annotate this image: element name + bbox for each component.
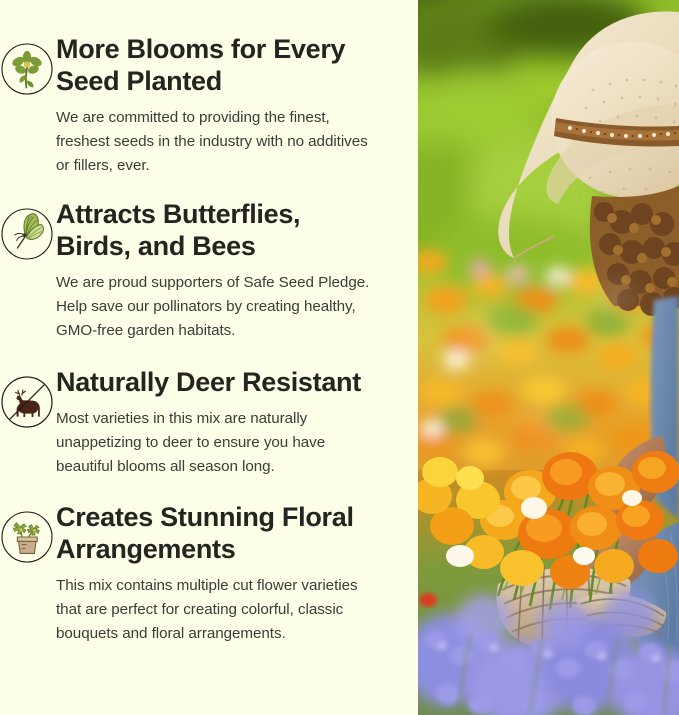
benefit-text-block: Creates Stunning Floral Arrangements Thi… [56,502,396,645]
potted-plant-icon [0,510,54,564]
benefit-title: Attracts Butterflies, Birds, and Bees [56,199,378,262]
benefit-title: Naturally Deer Resistant [56,367,378,399]
red-bud [419,593,437,607]
benefit-item-more-blooms: More Blooms for Every Seed Planted We ar… [0,34,396,177]
flower-icon [0,42,54,96]
benefit-text-block: More Blooms for Every Seed Planted We ar… [56,34,396,177]
benefit-description: Most varieties in this mix are naturally… [56,407,376,478]
benefit-icon-container [0,199,56,257]
benefit-text-block: Naturally Deer Resistant Most varieties … [56,367,396,479]
benefits-panel: More Blooms for Every Seed Planted We ar… [0,0,418,715]
benefit-title: More Blooms for Every Seed Planted [56,34,378,97]
benefit-description: We are committed to providing the finest… [56,106,376,177]
benefit-description: We are proud supporters of Safe Seed Ple… [56,271,378,342]
benefit-item-attracts-pollinators: Attracts Butterflies, Birds, and Bees We… [0,199,396,342]
benefit-description: This mix contains multiple cut flower va… [56,574,378,645]
benefit-text-block: Attracts Butterflies, Birds, and Bees We… [56,199,396,342]
benefit-icon-container [0,502,56,560]
product-benefits-banner: More Blooms for Every Seed Planted We ar… [0,0,679,715]
photo-illustration [418,0,679,715]
benefit-title: Creates Stunning Floral Arrangements [56,502,378,565]
no-deer-icon [0,375,54,429]
lifestyle-photo [418,0,679,715]
benefit-icon-container [0,34,56,92]
butterfly-icon [0,207,54,261]
benefit-item-floral-arrangements: Creates Stunning Floral Arrangements Thi… [0,502,396,645]
benefit-icon-container [0,367,56,425]
benefit-item-deer-resistant: Naturally Deer Resistant Most varieties … [0,367,396,479]
